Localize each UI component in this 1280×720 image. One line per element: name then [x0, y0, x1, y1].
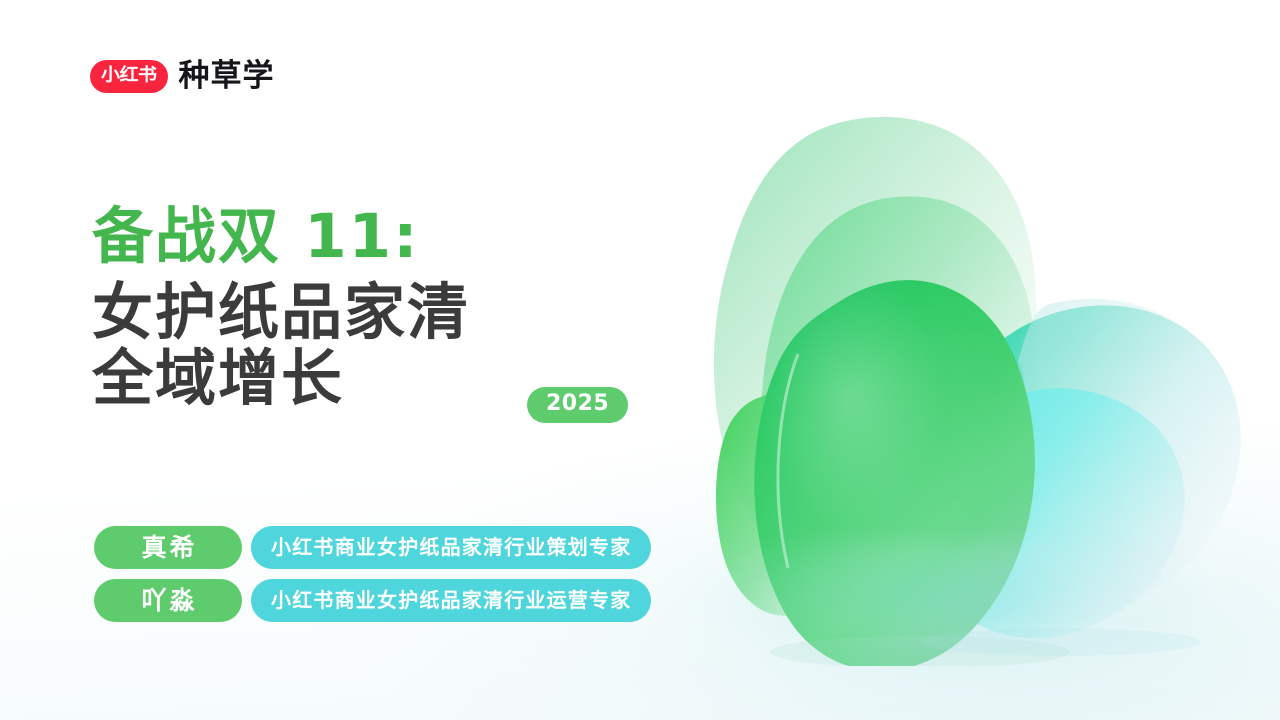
title-line-2: 女护纸品家清: [92, 282, 672, 344]
speaker-list: 真希 小红书商业女护纸品家清行业策划专家 吖淼 小红书商业女护纸品家清行业运营专…: [94, 526, 651, 632]
abstract-3d-heart-petals-artwork: [620, 86, 1260, 666]
brand-sub-logo-text: 种草学: [179, 61, 275, 92]
speaker-row: 吖淼 小红书商业女护纸品家清行业运营专家: [94, 579, 651, 622]
speaker-name-badge: 真希: [94, 526, 242, 569]
artwork-ground-reflection: [690, 538, 1210, 668]
year-badge: 2025: [527, 387, 628, 423]
xiaohongshu-logo-pill: 小红书: [90, 60, 168, 93]
speaker-row: 真希 小红书商业女护纸品家清行业策划专家: [94, 526, 651, 569]
speaker-role-badge: 小红书商业女护纸品家清行业策划专家: [251, 526, 651, 569]
slide-root: 小红书 种草学 备战双 11: 女护纸品家清 全域增长 2025 真希 小红书商…: [0, 0, 1280, 720]
page-title: 备战双 11: 女护纸品家清 全域增长: [92, 206, 672, 411]
speaker-role-badge: 小红书商业女护纸品家清行业运营专家: [251, 579, 651, 622]
brand-logo[interactable]: 小红书 种草学: [90, 60, 275, 93]
speaker-name-badge: 吖淼: [94, 579, 242, 622]
xiaohongshu-logo-text: 小红书: [101, 67, 157, 84]
title-line-1: 备战双 11:: [92, 206, 672, 268]
